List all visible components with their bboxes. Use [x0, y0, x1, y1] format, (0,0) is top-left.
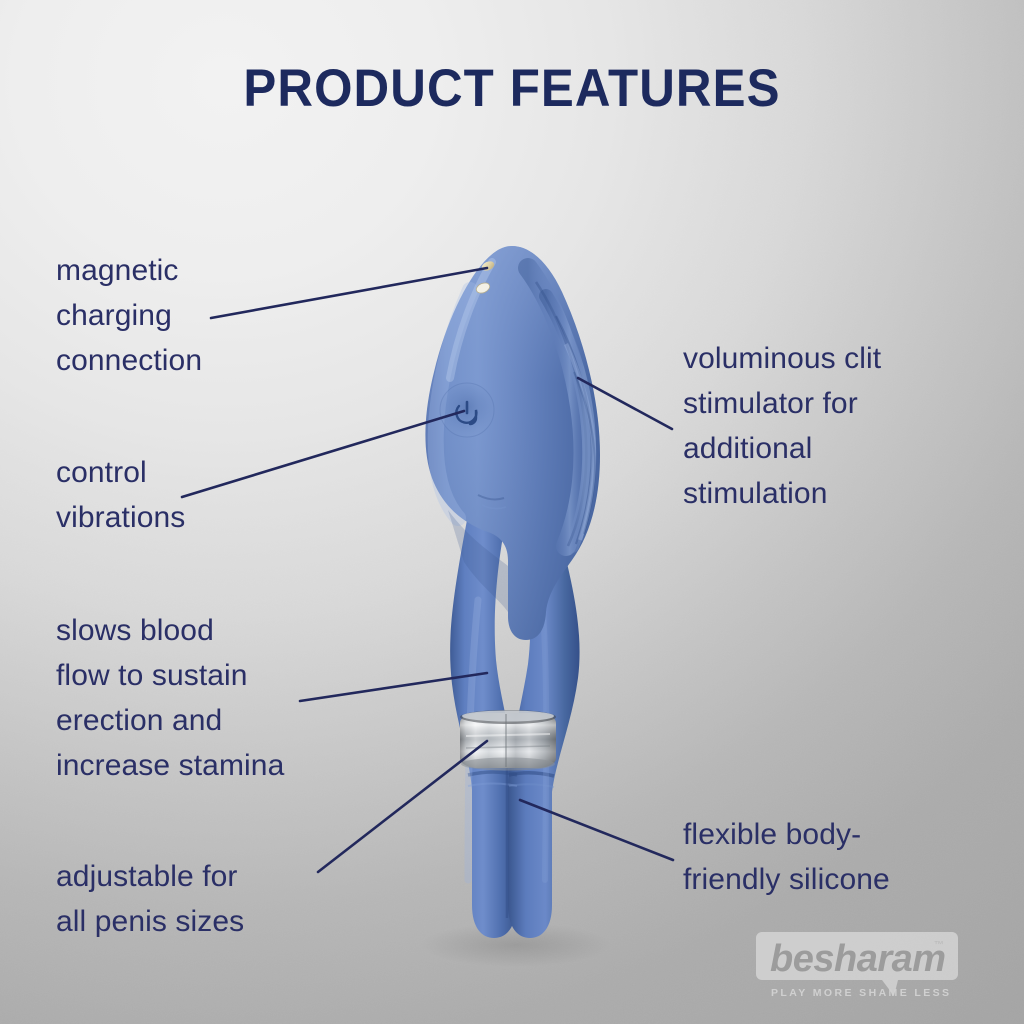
logo-wordmark: besharam — [770, 938, 946, 981]
leader-line-slows — [300, 673, 487, 701]
leader-line-adjustable — [318, 741, 487, 872]
leader-line-magnetic — [211, 268, 487, 318]
leader-line-voluminous — [578, 378, 672, 429]
besharam-logo: besharam ™ PLAY MORE SHAME LESS — [748, 932, 966, 1008]
leader-line-control — [182, 411, 464, 497]
leader-lines — [0, 0, 1024, 1024]
logo-tagline: PLAY MORE SHAME LESS — [771, 987, 951, 999]
logo-trademark-icon: ™ — [934, 940, 944, 951]
leader-line-flexible — [520, 800, 673, 860]
product-features-infographic: PRODUCT FEATURES — [0, 0, 1024, 1024]
